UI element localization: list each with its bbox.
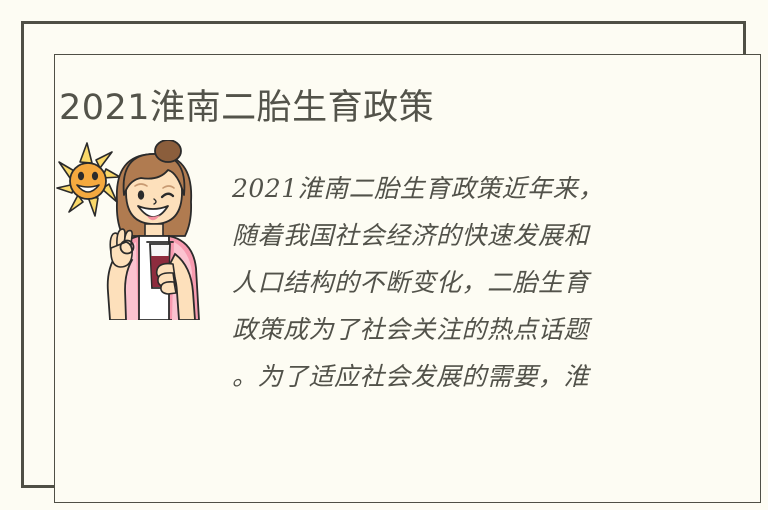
body-line: 人口结构的不断变化，二胎生育 — [232, 259, 652, 306]
smiling-sun-icon — [57, 143, 120, 216]
winking-girl-illustration — [108, 140, 199, 320]
body-line: 2021淮南二胎生育政策近年来， — [232, 165, 652, 212]
article-body: 2021淮南二胎生育政策近年来， 随着我国社会经济的快速发展和 人口结构的不断变… — [232, 165, 652, 400]
body-line: 随着我国社会经济的快速发展和 — [232, 212, 652, 259]
body-line: 。为了适应社会发展的需要，淮 — [232, 353, 652, 400]
body-line: 政策成为了社会关注的热点话题 — [232, 306, 652, 353]
page-title: 2021淮南二胎生育政策 — [59, 86, 434, 130]
page-canvas: 2021淮南二胎生育政策 — [0, 0, 768, 510]
illustration-sun-and-girl — [55, 140, 215, 320]
